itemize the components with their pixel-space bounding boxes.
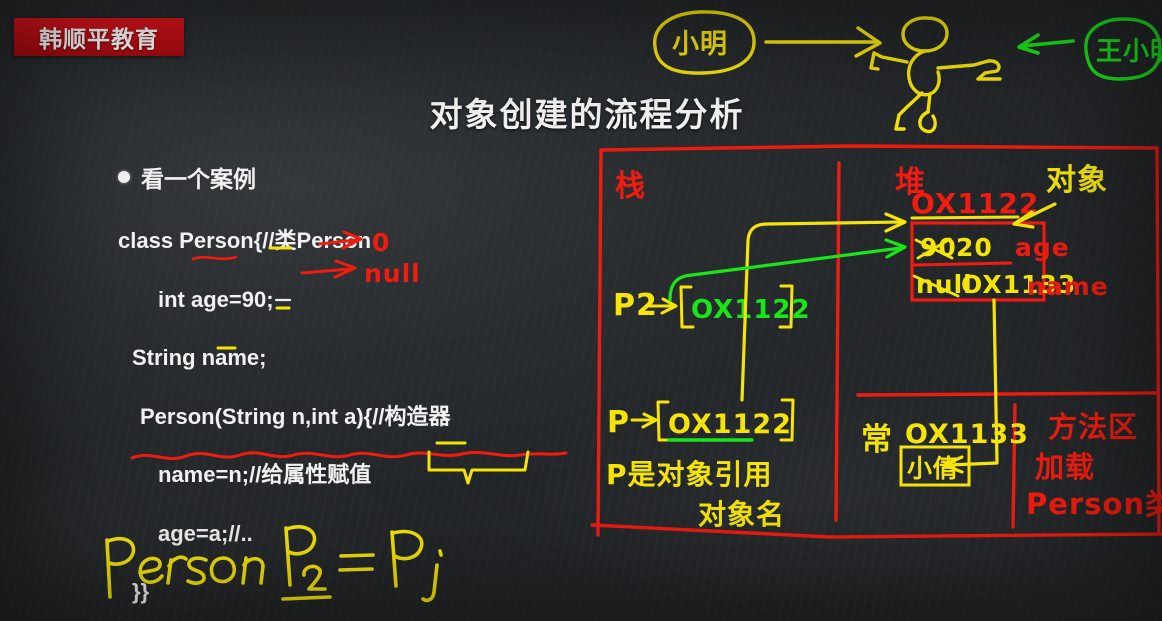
constant-pool-address: OX1133 [905,419,1029,450]
heap-object-row-divider [913,263,1012,265]
label-constant-pool: 常 [861,422,893,458]
label-object: 对象 [1046,163,1108,198]
stack-address-p2: OX1122 [691,295,811,325]
diagram-border-bottom [592,525,1162,537]
stack-ref-p: P [607,405,630,440]
stack-address-p: OX1122 [668,409,792,440]
annotation-name-value: null [364,259,421,288]
handwriting-person-p2 [107,527,441,600]
chalk-ink-layer: 小明 王小明 0 null [0,0,1162,621]
pointer-p-to-heap [670,248,901,300]
heap-field-age-new-value: 20 [956,233,993,262]
annotation-age-value: 0 [372,228,390,257]
diagram-border-top [601,146,1157,150]
heap-field-age-name: age [1015,233,1070,262]
method-area-line-2: Person类 [1026,487,1162,521]
heap-field-name-name: name [1027,272,1109,301]
label-xiaoming: 小明 [672,29,728,60]
stack-note-reference: P是对象引用 [606,458,773,491]
label-stack: 栈 [615,169,646,204]
heap-object-address: OX1122 [911,187,1039,220]
method-area-line-1: 加载 [1035,450,1095,484]
stick-figure-icon [871,18,1000,132]
constant-pool-value: 小倩 [907,454,959,483]
diagram-divider-stack-heap [836,163,839,520]
diagram-divider-constantpool-top [858,393,1157,395]
diagram-border-right [1157,148,1159,533]
label-method-area: 方法区 [1048,410,1138,444]
label-wangxiaoming: 王小明 [1096,37,1162,67]
underline-age-red [193,257,236,259]
squiggle-underline-new-person [132,452,566,458]
diagram-border-left [598,150,601,535]
underline-heap-address [912,217,1018,218]
stack-note-objectname: 对象名 [698,498,785,531]
slide-canvas: 韩顺平教育 对象创建的流程分析 看一个案例 class Person{//类Pe… [0,0,1162,621]
